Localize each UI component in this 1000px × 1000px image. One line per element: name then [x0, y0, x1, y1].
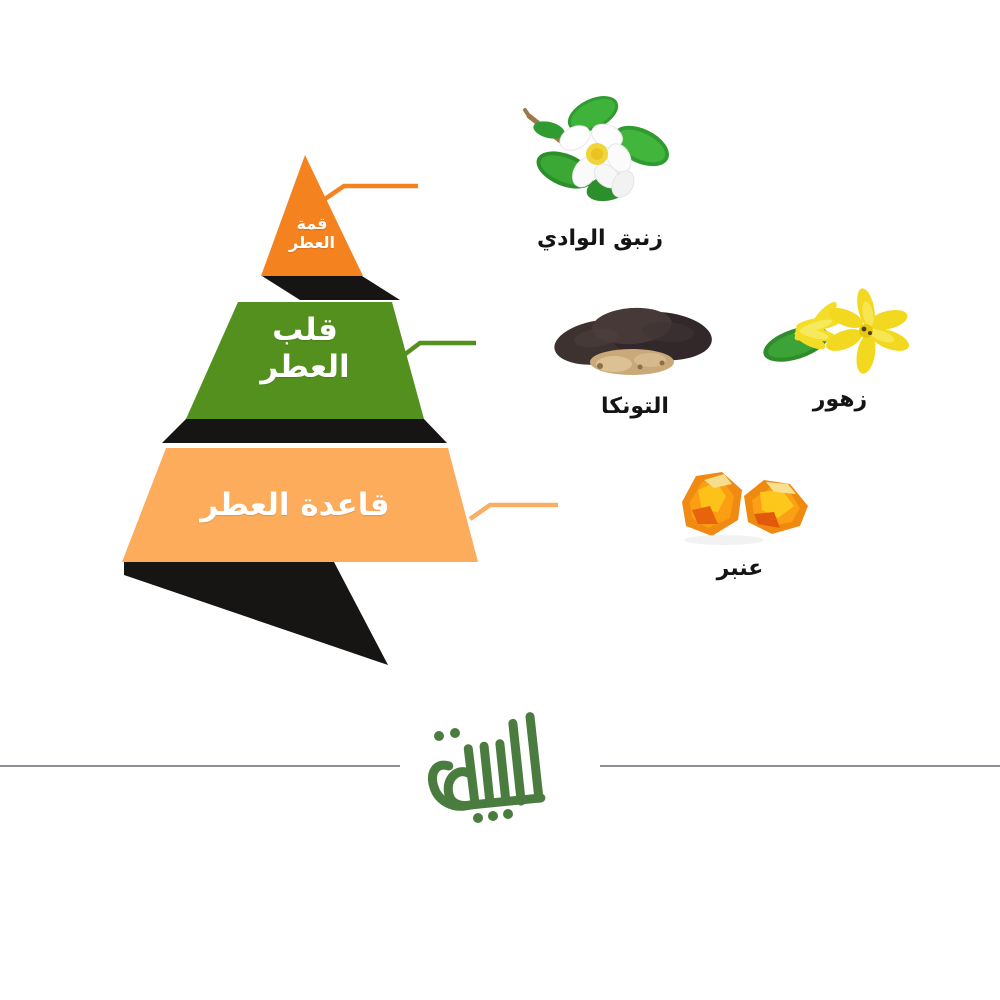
tier-label-top: قمة العطر — [262, 215, 362, 253]
tier-label-heart: قلب العطر — [215, 312, 395, 385]
base-tier-shadow — [124, 562, 388, 665]
ingredient-lily-of-the-valley: زنبق الوادي — [455, 92, 745, 251]
ingredient-flowers: زهور — [740, 288, 940, 412]
yellow-ylang-flower-icon — [758, 288, 923, 383]
divider-right — [600, 765, 1000, 767]
divider-left — [0, 765, 400, 767]
ingredient-label: التونكا — [500, 394, 770, 419]
ingredient-amber: عنبر — [625, 462, 855, 581]
ingredient-tonka: التونكا — [500, 300, 770, 419]
amber-resin-icon — [660, 462, 820, 552]
base-tier-connector — [470, 505, 558, 519]
ingredient-label: عنبر — [625, 556, 855, 581]
heart-tier-shadow — [162, 418, 447, 443]
top-tier-connector — [322, 186, 418, 201]
heart-tier-connector — [400, 343, 476, 358]
ingredient-label: زهور — [740, 387, 940, 412]
ingredient-label: زنبق الوادي — [455, 226, 745, 251]
white-jasmine-flower-icon — [515, 92, 685, 222]
tonka-bean-icon — [540, 300, 730, 390]
fragrance-pyramid-infographic: قمة العطر قلب العطر قاعدة العطر — [0, 0, 1000, 1000]
arabic-brand-wordmark-icon[interactable] — [400, 700, 600, 840]
top-tier-shadow — [262, 276, 400, 300]
tier-label-base: قاعدة العطر — [150, 487, 440, 524]
